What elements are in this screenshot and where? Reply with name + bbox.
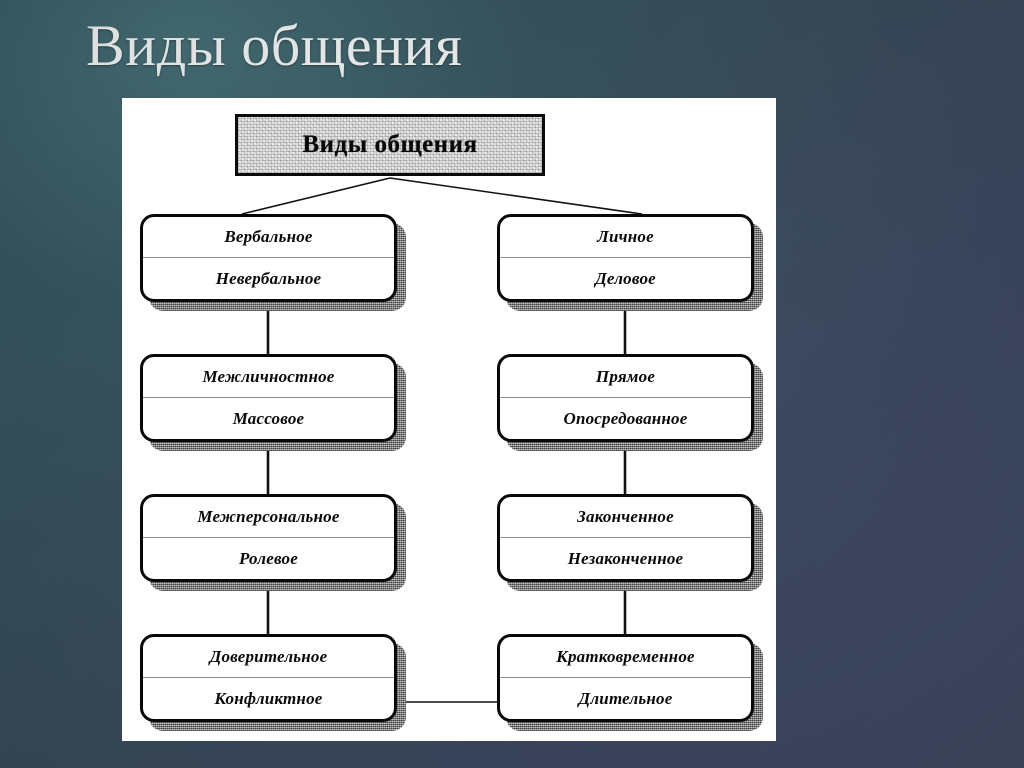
node-left-0[interactable]: Вербальное Невербальное	[140, 214, 397, 302]
node-label-top: Межличностное	[143, 357, 394, 398]
node-card: Личное Деловое	[497, 214, 754, 302]
node-card: Кратковременное Длительное	[497, 634, 754, 722]
node-label-top: Доверительное	[143, 637, 394, 678]
root-node[interactable]: Виды общения	[235, 114, 545, 176]
node-label-top: Прямое	[500, 357, 751, 398]
node-card: Межличностное Массовое	[140, 354, 397, 442]
node-card: Законченное Незаконченное	[497, 494, 754, 582]
connector-root-to-right	[390, 178, 642, 214]
node-right-2[interactable]: Законченное Незаконченное	[497, 494, 754, 582]
node-label-top: Межперсональное	[143, 497, 394, 538]
node-card: Межперсональное Ролевое	[140, 494, 397, 582]
diagram-panel: Виды общения Вербальное Невербальное Меж…	[122, 98, 776, 741]
node-label-bottom: Массовое	[143, 398, 394, 439]
node-card: Вербальное Невербальное	[140, 214, 397, 302]
node-label-bottom: Длительное	[500, 678, 751, 719]
node-right-3[interactable]: Кратковременное Длительное	[497, 634, 754, 722]
node-card: Прямое Опосредованное	[497, 354, 754, 442]
node-left-1[interactable]: Межличностное Массовое	[140, 354, 397, 442]
node-left-2[interactable]: Межперсональное Ролевое	[140, 494, 397, 582]
node-label-bottom: Ролевое	[143, 538, 394, 579]
node-label-bottom: Деловое	[500, 258, 751, 299]
node-label-bottom: Конфликтное	[143, 678, 394, 719]
node-label-top: Кратковременное	[500, 637, 751, 678]
node-label-bottom: Невербальное	[143, 258, 394, 299]
connector-root-to-left	[242, 178, 390, 214]
node-label-top: Личное	[500, 217, 751, 258]
node-label-top: Вербальное	[143, 217, 394, 258]
node-label-bottom: Незаконченное	[500, 538, 751, 579]
root-node-label: Виды общения	[302, 131, 477, 159]
node-left-3[interactable]: Доверительное Конфликтное	[140, 634, 397, 722]
node-right-1[interactable]: Прямое Опосредованное	[497, 354, 754, 442]
node-label-bottom: Опосредованное	[500, 398, 751, 439]
node-label-top: Законченное	[500, 497, 751, 538]
node-card: Доверительное Конфликтное	[140, 634, 397, 722]
page-title: Виды общения	[86, 16, 462, 77]
node-right-0[interactable]: Личное Деловое	[497, 214, 754, 302]
